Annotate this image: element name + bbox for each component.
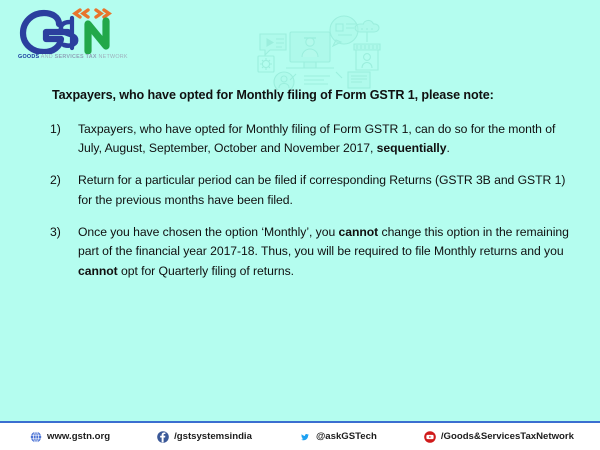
footer-link-youtube[interactable]: /Goods&ServicesTaxNetwork <box>424 431 574 443</box>
emphasis-text: sequentially <box>377 141 447 155</box>
globe-icon <box>30 431 42 443</box>
list-item: 3)Once you have chosen the option ‘Month… <box>0 223 600 282</box>
list-item-text: Taxpayers, who have opted for Monthly fi… <box>78 122 555 156</box>
footer-label-facebook: /gstsystemsindia <box>174 431 252 442</box>
logo-letter-n <box>88 21 106 51</box>
footer-label-website: www.gstn.org <box>47 431 110 442</box>
list-item-marker: 1) <box>50 120 61 140</box>
emphasis-text: cannot <box>339 225 379 239</box>
list-item-text: Once you have chosen the option ‘Monthly… <box>78 225 569 279</box>
footer-link-facebook[interactable]: /gstsystemsindia <box>157 431 252 443</box>
body-text: opt for Quarterly filing of returns. <box>118 264 294 278</box>
chevron-icon <box>75 10 109 17</box>
body-text: Once you have chosen the option ‘Monthly… <box>78 225 339 239</box>
list-item-marker: 2) <box>50 171 61 191</box>
twitter-icon <box>299 431 311 443</box>
digital-services-illustration <box>252 12 384 90</box>
footer-link-website[interactable]: www.gstn.org <box>30 431 110 443</box>
header-banner: GOODS AND SERVICES TAX NETWORK <box>0 0 600 86</box>
gstn-logo: GOODS AND SERVICES TAX NETWORK <box>18 8 130 68</box>
list-item: 1)Taxpayers, who have opted for Monthly … <box>0 120 600 160</box>
footer-label-twitter: @askGSTech <box>316 431 377 442</box>
body-text: Return for a particular period can be fi… <box>78 173 565 207</box>
footer-label-youtube: /Goods&ServicesTaxNetwork <box>441 431 574 442</box>
list-item-text: Return for a particular period can be fi… <box>78 173 565 207</box>
notice-list: 1)Taxpayers, who have opted for Monthly … <box>0 120 600 282</box>
tagline-network: NETWORK <box>97 54 128 60</box>
tagline-goods: GOODS <box>18 54 39 60</box>
footer-link-twitter[interactable]: @askGSTech <box>299 431 377 443</box>
tagline-and: AND <box>39 54 54 60</box>
facebook-icon <box>157 431 169 443</box>
list-item-marker: 3) <box>50 223 61 243</box>
body-text: . <box>447 141 450 155</box>
body-text: Taxpayers, who have opted for Monthly fi… <box>78 122 555 156</box>
social-footer: www.gstn.org /gstsystemsindia @askGSTech… <box>0 421 600 450</box>
tagline-services-tax: SERVICES TAX <box>55 54 97 60</box>
list-item: 2)Return for a particular period can be … <box>0 171 600 211</box>
gstn-logo-tagline: GOODS AND SERVICES TAX NETWORK <box>18 54 128 60</box>
youtube-icon <box>424 431 436 443</box>
main-content: Taxpayers, who have opted for Monthly fi… <box>0 86 600 294</box>
page-title: Taxpayers, who have opted for Monthly fi… <box>0 86 600 106</box>
gstn-logo-mark <box>18 8 130 54</box>
emphasis-text: cannot <box>78 264 118 278</box>
